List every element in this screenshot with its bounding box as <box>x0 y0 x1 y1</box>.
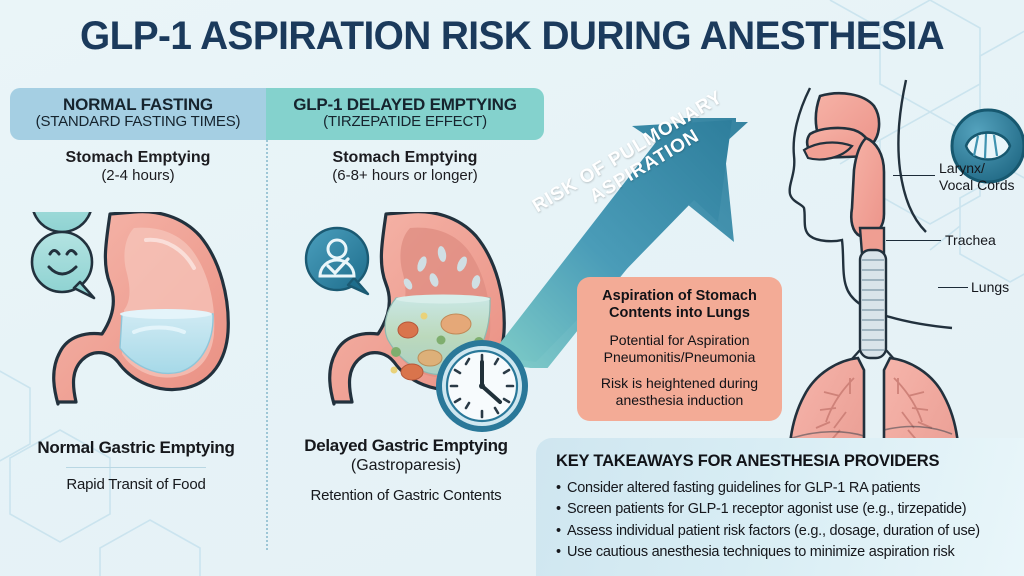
caption-normal-gastric-emptying: Normal Gastric Emptying Rapid Transit of… <box>6 438 266 493</box>
callout-point2-line1: Risk is heightened during <box>587 375 772 392</box>
caption-left-rule <box>66 467 206 468</box>
callout-point1-line2: Pneumonitis/Pneumonia <box>587 349 772 366</box>
column-header-pills: NORMAL FASTING (STANDARD FASTING TIMES) … <box>10 88 544 140</box>
key-takeaway-item: Assess individual patient risk factors (… <box>556 521 1014 542</box>
key-takeaways-panel: KEY TAKEAWAYS FOR ANESTHESIA PROVIDERS C… <box>536 438 1024 576</box>
caption-left-body: Rapid Transit of Food <box>6 476 266 493</box>
lungs-shape <box>789 358 958 438</box>
pill-normal-fasting-sub: (STANDARD FASTING TIMES) <box>24 114 252 131</box>
key-takeaways-list: Consider altered fasting guidelines for … <box>556 478 1014 563</box>
clock-icon <box>436 340 528 432</box>
infographic-canvas: GLP-1 ASPIRATION RISK DURING ANESTHESIA … <box>0 0 1024 576</box>
caption-right-body: Retention of Gastric Contents <box>268 487 544 504</box>
airway-anatomy-illustration <box>780 78 1024 438</box>
anatomy-label-trachea: Trachea <box>945 232 996 249</box>
normal-stomach-illustration <box>14 212 272 440</box>
patient-check-badge-icon <box>306 228 368 294</box>
subhead-left-line2: (2-4 hours) <box>10 167 266 185</box>
key-takeaway-item: Use cautious anesthesia techniques to mi… <box>556 542 1014 563</box>
caption-delayed-gastric-emptying: Delayed Gastric Emptying (Gastroparesis)… <box>268 436 544 504</box>
key-takeaways-title: KEY TAKEAWAYS FOR ANESTHESIA PROVIDERS <box>556 452 1014 471</box>
callout-heading-line1: Aspiration of Stomach <box>587 288 772 305</box>
subhead-normal-emptying: Stomach Emptying (2-4 hours) <box>10 148 266 185</box>
trachea-shape <box>844 250 902 368</box>
anatomy-label-larynx-line1: Larynx/ <box>939 160 1014 177</box>
key-takeaway-item: Screen patients for GLP-1 receptor agoni… <box>556 499 1014 520</box>
caption-right-sub: (Gastroparesis) <box>268 456 544 475</box>
subhead-left-line1: Stomach Emptying <box>10 148 266 167</box>
callout-point1-line1: Potential for Aspiration <box>587 332 772 349</box>
anatomy-label-lungs: Lungs <box>971 279 1009 296</box>
aspiration-callout: Aspiration of Stomach Contents into Lung… <box>577 277 782 421</box>
caption-left-title: Normal Gastric Emptying <box>6 438 266 458</box>
smiley-speech-bubble-icon <box>32 212 94 298</box>
pill-normal-fasting-title: NORMAL FASTING <box>24 95 252 114</box>
key-takeaway-item: Consider altered fasting guidelines for … <box>556 478 1014 499</box>
pill-normal-fasting: NORMAL FASTING (STANDARD FASTING TIMES) <box>10 88 266 140</box>
callout-point2-line2: anesthesia induction <box>587 392 772 409</box>
anatomy-label-larynx-line2: Vocal Cords <box>939 177 1014 194</box>
pill-glp1-title: GLP-1 DELAYED EMPTYING <box>280 95 530 114</box>
caption-right-title: Delayed Gastric Emptying <box>268 436 544 456</box>
callout-heading-line2: Contents into Lungs <box>587 305 772 322</box>
page-title: GLP-1 ASPIRATION RISK DURING ANESTHESIA <box>15 14 1008 59</box>
leader-line-lungs <box>938 287 968 288</box>
anatomy-label-larynx: Larynx/ Vocal Cords <box>939 160 1014 193</box>
leader-line-larynx <box>893 175 935 176</box>
leader-line-trachea <box>886 240 941 241</box>
